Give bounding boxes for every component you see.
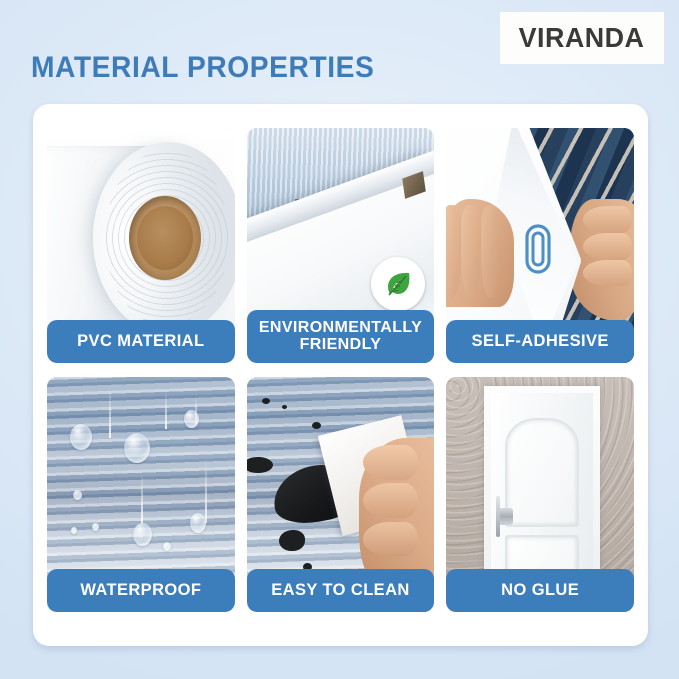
features-grid: PVC MATERIAL <box>47 128 634 612</box>
feature-tile-easy-to-clean: EASY TO CLEAN <box>247 377 435 612</box>
feature-tile-no-glue: NO GLUE <box>446 377 634 612</box>
feature-label-waterproof: WATERPROOF <box>47 569 235 612</box>
feature-label-self-adhesive: SELF-ADHESIVE <box>446 320 634 363</box>
hand-left <box>446 199 514 307</box>
feature-tile-pvc-material: PVC MATERIAL <box>47 128 235 363</box>
feature-label-environmentally-friendly: ENVIRONMENTALLY FRIENDLY <box>247 310 435 363</box>
feature-label-easy-to-clean: EASY TO CLEAN <box>247 569 435 612</box>
door-handle-icon <box>498 508 513 525</box>
feature-tile-self-adhesive: SELF-ADHESIVE <box>446 128 634 363</box>
features-card: PVC MATERIAL <box>33 104 648 646</box>
leaf-icon <box>371 257 425 311</box>
feature-tile-waterproof: WATERPROOF <box>47 377 235 612</box>
feature-tile-environmentally-friendly: ENVIRONMENTALLY FRIENDLY <box>247 128 435 363</box>
feature-label-pvc-material: PVC MATERIAL <box>47 320 235 363</box>
infographic-page: VIRANDA MATERIAL PROPERTIES PVC MATERIAL <box>0 0 679 679</box>
feature-label-no-glue: NO GLUE <box>446 569 634 612</box>
page-title: MATERIAL PROPERTIES <box>31 51 374 85</box>
brand-logo: VIRANDA <box>500 12 664 64</box>
brand-name: VIRANDA <box>519 22 645 54</box>
paperclip-icon <box>523 222 553 276</box>
